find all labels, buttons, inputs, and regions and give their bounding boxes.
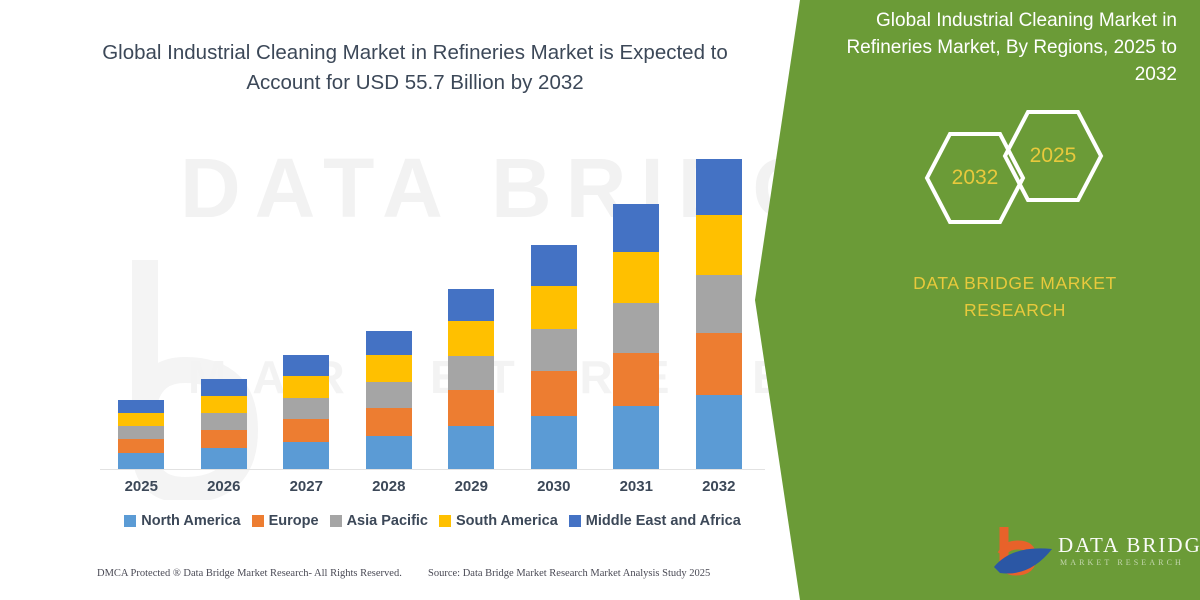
legend-item-europe[interactable]: Europe: [252, 513, 319, 529]
bar-slot: [265, 141, 348, 469]
bar-segment-middle-east-and-africa[interactable]: [201, 379, 247, 396]
stacked-bar[interactable]: [696, 159, 742, 469]
stacked-bar[interactable]: [283, 355, 329, 469]
x-axis-label: 2025: [100, 478, 183, 495]
bar-segment-middle-east-and-africa[interactable]: [448, 289, 494, 321]
legend-swatch: [569, 515, 581, 527]
legend-item-south-america[interactable]: South America: [439, 513, 558, 529]
stacked-bar[interactable]: [531, 245, 577, 469]
bar-slot: [513, 141, 596, 469]
legend-swatch: [124, 515, 136, 527]
footer-copyright: DMCA Protected ® Data Bridge Market Rese…: [97, 568, 402, 579]
bar-segment-north-america[interactable]: [366, 436, 412, 469]
stacked-bar[interactable]: [613, 204, 659, 469]
bar-segment-europe[interactable]: [531, 371, 577, 416]
bar-segment-asia-pacific[interactable]: [366, 382, 412, 408]
stacked-bar[interactable]: [201, 379, 247, 469]
footer-source: Source: Data Bridge Market Research Mark…: [428, 568, 710, 579]
bar-segment-asia-pacific[interactable]: [613, 303, 659, 353]
bar-slot: [348, 141, 431, 469]
x-axis-label: 2031: [595, 478, 678, 495]
bar-slot: [183, 141, 266, 469]
bar-segment-europe[interactable]: [696, 333, 742, 395]
bar-segment-europe[interactable]: [448, 390, 494, 426]
x-axis-line: [100, 469, 765, 470]
bar-segment-asia-pacific[interactable]: [696, 275, 742, 333]
stacked-bar[interactable]: [448, 289, 494, 469]
data-bridge-logo-icon: [990, 527, 1060, 581]
bar-segment-south-america[interactable]: [118, 413, 164, 426]
bar-segment-middle-east-and-africa[interactable]: [696, 159, 742, 215]
legend-label: Asia Pacific: [347, 513, 428, 529]
x-axis-label: 2030: [513, 478, 596, 495]
hexagon-label-right: 2025: [1003, 106, 1103, 206]
logo-subtitle: MARKET RESEARCH: [1060, 558, 1184, 567]
x-axis-label: 2032: [678, 478, 761, 495]
legend-item-middle-east-and-africa[interactable]: Middle East and Africa: [569, 513, 741, 529]
x-axis-labels: 20252026202720282029203020312032: [100, 478, 760, 495]
bar-segment-europe[interactable]: [613, 353, 659, 406]
legend-item-asia-pacific[interactable]: Asia Pacific: [330, 513, 428, 529]
hexagon-badge-2025: 2025: [1003, 106, 1103, 206]
bar-segment-asia-pacific[interactable]: [448, 356, 494, 390]
legend-label: South America: [456, 513, 558, 529]
bar-slot: [595, 141, 678, 469]
brand-line-1: DATA BRIDGE MARKET: [865, 270, 1165, 297]
legend-swatch: [252, 515, 264, 527]
bar-segment-north-america[interactable]: [201, 448, 247, 469]
brand-name: DATA BRIDGE MARKET RESEARCH: [865, 270, 1165, 324]
legend-label: North America: [141, 513, 240, 529]
bar-segment-europe[interactable]: [118, 439, 164, 453]
x-axis-label: 2026: [183, 478, 266, 495]
bar-segment-north-america[interactable]: [613, 406, 659, 469]
bar-segment-europe[interactable]: [283, 419, 329, 442]
bar-segment-south-america[interactable]: [201, 396, 247, 413]
legend-swatch: [330, 515, 342, 527]
bar-segment-north-america[interactable]: [283, 442, 329, 469]
green-side-panel: Global Industrial Cleaning Market in Ref…: [755, 0, 1200, 600]
chart-legend: North AmericaEuropeAsia PacificSouth Ame…: [100, 513, 765, 529]
bar-slot: [100, 141, 183, 469]
panel-title: Global Industrial Cleaning Market in Ref…: [805, 8, 1177, 89]
company-logo: DATA BRIDGE MARKET RESEARCH: [990, 527, 1190, 585]
footer: DMCA Protected ® Data Bridge Market Rese…: [0, 568, 800, 592]
brand-line-2: RESEARCH: [865, 297, 1165, 324]
legend-label: Middle East and Africa: [586, 513, 741, 529]
bar-segment-middle-east-and-africa[interactable]: [366, 331, 412, 355]
x-axis-label: 2029: [430, 478, 513, 495]
bar-segment-asia-pacific[interactable]: [531, 329, 577, 371]
bar-segment-south-america[interactable]: [531, 286, 577, 329]
bar-segment-north-america[interactable]: [118, 453, 164, 469]
stacked-bar[interactable]: [118, 400, 164, 469]
hexagon-badges: 2032 2025: [923, 108, 1123, 228]
bar-segment-north-america[interactable]: [696, 395, 742, 469]
legend-item-north-america[interactable]: North America: [124, 513, 240, 529]
bar-slot: [430, 141, 513, 469]
x-axis-label: 2027: [265, 478, 348, 495]
legend-label: Europe: [269, 513, 319, 529]
bar-group: [100, 141, 760, 469]
bar-segment-south-america[interactable]: [696, 215, 742, 275]
x-axis-label: 2028: [348, 478, 431, 495]
bar-slot: [678, 141, 761, 469]
bar-segment-south-america[interactable]: [448, 321, 494, 356]
bar-segment-europe[interactable]: [366, 408, 412, 436]
bar-segment-south-america[interactable]: [613, 252, 659, 303]
bar-segment-south-america[interactable]: [283, 376, 329, 398]
chart-panel: Global Industrial Cleaning Market in Ref…: [0, 0, 810, 600]
legend-swatch: [439, 515, 451, 527]
bar-segment-asia-pacific[interactable]: [283, 398, 329, 419]
page-title: Global Industrial Cleaning Market in Ref…: [95, 38, 735, 97]
bar-segment-asia-pacific[interactable]: [118, 426, 164, 439]
bar-segment-europe[interactable]: [201, 430, 247, 448]
logo-wordmark: DATA BRIDGE: [1058, 533, 1200, 558]
bar-segment-middle-east-and-africa[interactable]: [613, 204, 659, 252]
bar-segment-middle-east-and-africa[interactable]: [118, 400, 164, 413]
bar-segment-north-america[interactable]: [448, 426, 494, 469]
bar-segment-north-america[interactable]: [531, 416, 577, 469]
bar-segment-asia-pacific[interactable]: [201, 413, 247, 430]
stacked-bar-chart: [100, 140, 760, 470]
bar-segment-middle-east-and-africa[interactable]: [531, 245, 577, 286]
bar-segment-south-america[interactable]: [366, 355, 412, 382]
bar-segment-middle-east-and-africa[interactable]: [283, 355, 329, 376]
stacked-bar[interactable]: [366, 331, 412, 469]
